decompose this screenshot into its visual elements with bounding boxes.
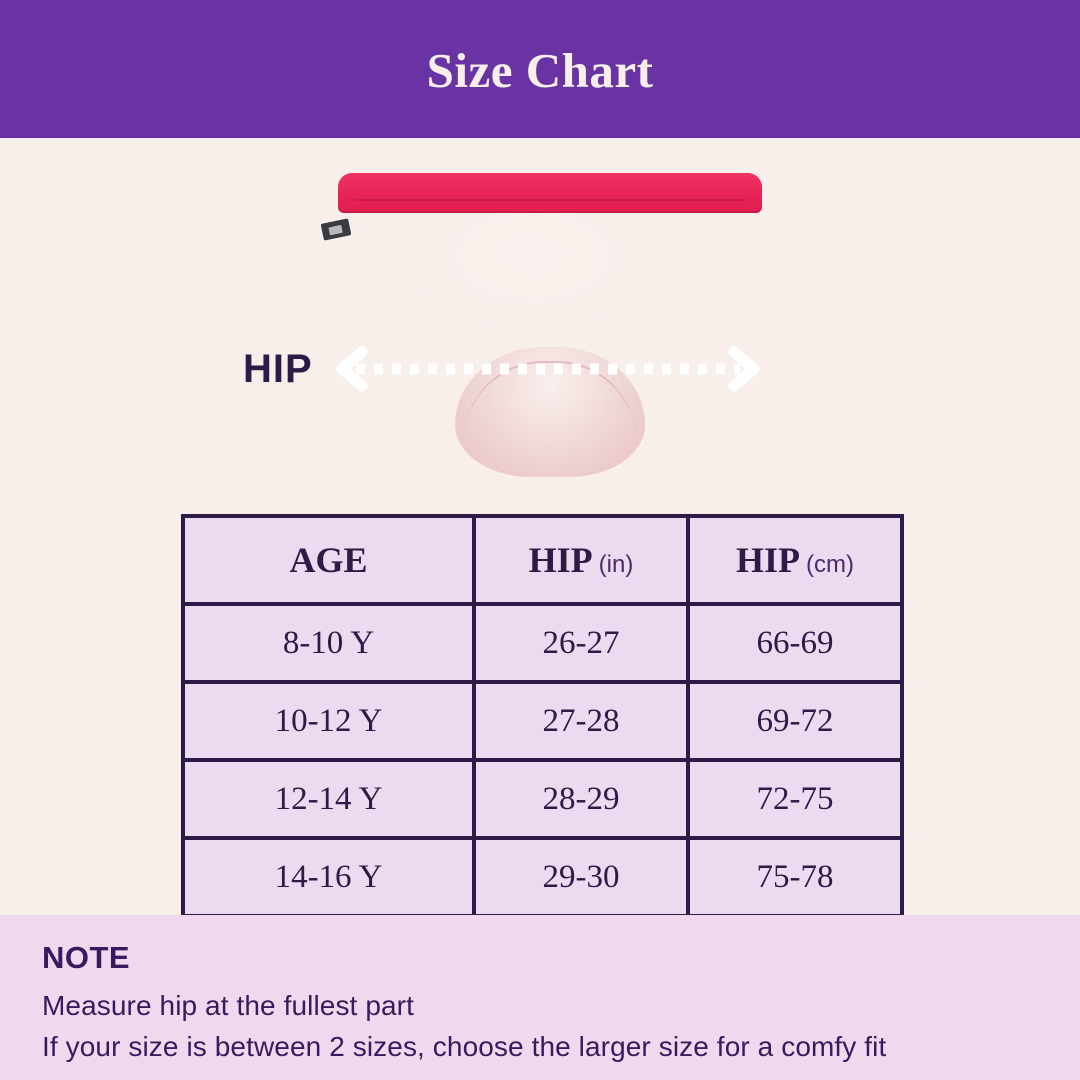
garment-image [330,163,770,483]
cell-age: 14-16 Y [183,838,474,916]
column-header-hip-in-unit: (in) [599,551,634,578]
column-header-age-label: AGE [289,540,367,580]
table-row: 10-12 Y 27-28 69-72 [183,682,902,760]
hip-measure-double-arrow-icon [330,346,766,392]
hip-measure-label: HIP [243,349,313,389]
table-header-row: AGE HIP(in) HIP(cm) [183,516,902,604]
garment-waistband [338,173,762,213]
size-chart-page: Size Chart HIP [0,0,1080,1080]
garment-body [338,173,762,473]
page-title: Size Chart [427,46,654,95]
column-header-hip-cm: HIP(cm) [688,516,902,604]
cell-hip-in: 26-27 [474,604,688,682]
size-table-container: AGE HIP(in) HIP(cm) 8-10 Y 26-27 66-69 [181,514,900,896]
note-heading: NOTE [42,941,1080,975]
product-illustration-area: HIP [0,138,1080,508]
garment-highlight [398,203,698,353]
column-header-age: AGE [183,516,474,604]
cell-hip-cm: 75-78 [688,838,902,916]
cell-hip-in: 27-28 [474,682,688,760]
table-row: 12-14 Y 28-29 72-75 [183,760,902,838]
column-header-hip-in: HIP(in) [474,516,688,604]
table-row: 8-10 Y 26-27 66-69 [183,604,902,682]
cell-hip-cm: 72-75 [688,760,902,838]
cell-hip-in: 28-29 [474,760,688,838]
table-row: 14-16 Y 29-30 75-78 [183,838,902,916]
column-header-hip-cm-unit: (cm) [806,551,854,578]
note-band: NOTE Measure hip at the fullest part If … [0,915,1080,1080]
cell-age: 12-14 Y [183,760,474,838]
column-header-hip-in-label: HIP [529,540,593,580]
note-line-1: Measure hip at the fullest part [42,986,1080,1027]
size-table: AGE HIP(in) HIP(cm) 8-10 Y 26-27 66-69 [181,514,904,918]
cell-hip-cm: 69-72 [688,682,902,760]
header-band: Size Chart [0,0,1080,138]
note-line-2: If your size is between 2 sizes, choose … [42,1027,1080,1068]
cell-age: 10-12 Y [183,682,474,760]
cell-hip-cm: 66-69 [688,604,902,682]
cell-age: 8-10 Y [183,604,474,682]
column-header-hip-cm-label: HIP [736,540,800,580]
cell-hip-in: 29-30 [474,838,688,916]
